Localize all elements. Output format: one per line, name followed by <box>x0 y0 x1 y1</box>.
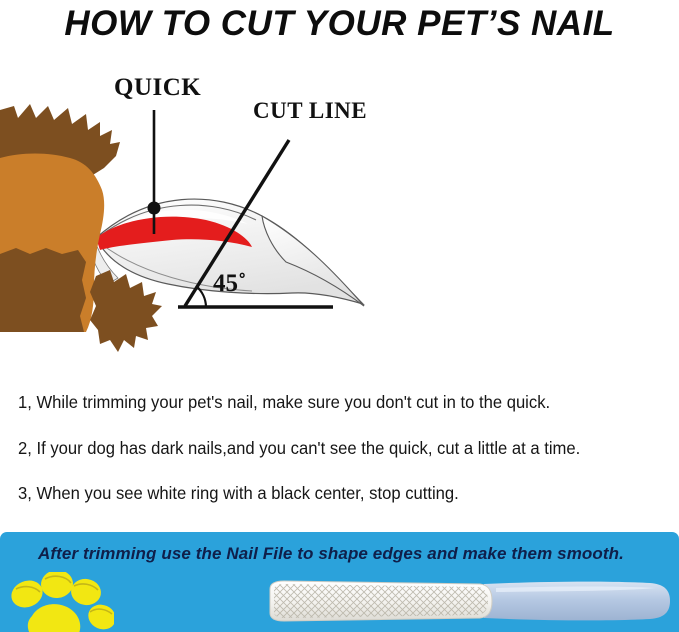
label-angle: 45˚ <box>213 270 246 298</box>
label-quick: QUICK <box>114 74 201 102</box>
paw-toe <box>7 576 46 612</box>
label-cut-line: CUT LINE <box>253 98 367 124</box>
fur-lower-dark <box>0 248 86 332</box>
paw-print-icon <box>2 572 114 632</box>
nail-file-icon <box>252 578 676 624</box>
paw-main-pad <box>28 604 80 632</box>
nail-file-texture <box>274 584 488 618</box>
footer-text: After trimming use the Nail File to shap… <box>38 544 624 564</box>
dot-marker-icon <box>148 202 161 215</box>
nail-anatomy-diagram: QUICK CUT LINE 45˚ <box>0 48 679 368</box>
diagram-graphic <box>0 48 679 368</box>
instruction-item: 2, If your dog has dark nails,and you ca… <box>18 438 580 459</box>
paw-toe <box>84 600 114 632</box>
infographic-page: HOW TO CUT YOUR PET’S NAIL <box>0 0 679 632</box>
instruction-item: 1, While trimming your pet's nail, make … <box>18 392 550 413</box>
instruction-item: 3, When you see white ring with a black … <box>18 483 459 504</box>
paw-toe <box>69 577 103 608</box>
page-title: HOW TO CUT YOUR PET’S NAIL <box>0 0 679 48</box>
instruction-list: 1, While trimming your pet's nail, make … <box>0 378 679 528</box>
fur-tuft-dark <box>90 270 162 352</box>
